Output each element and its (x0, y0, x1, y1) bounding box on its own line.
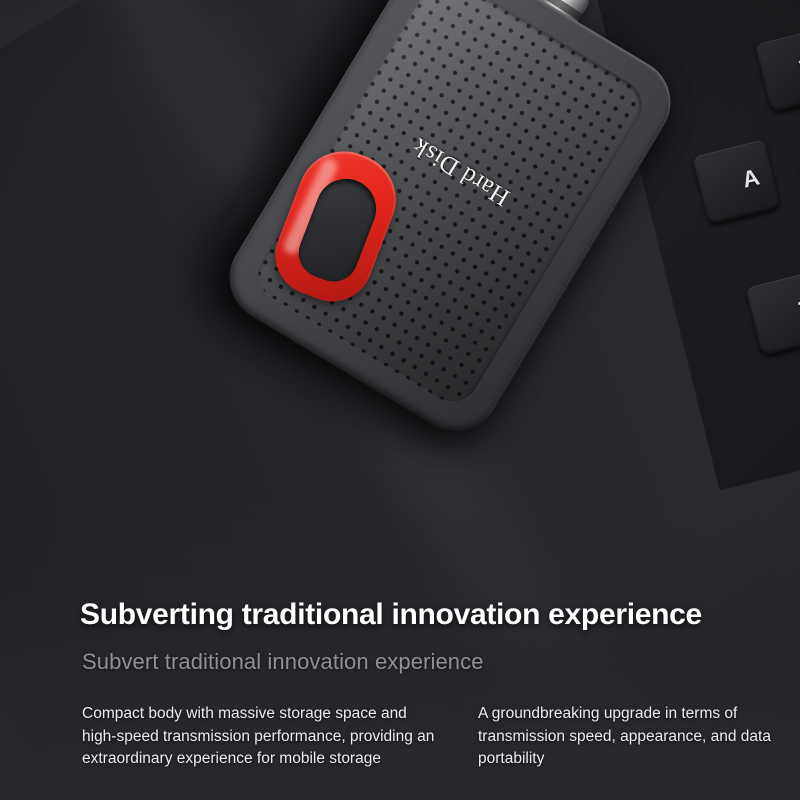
copy-column-right: A groundbreaking upgrade in terms of tra… (478, 703, 778, 771)
subheading: Subvert traditional innovation experienc… (82, 649, 484, 675)
product-banner: @ 2 W S A Z A Hard Disk (0, 0, 800, 800)
copy-column-left: Compact body with massive storage space … (82, 703, 442, 771)
headline: Subverting traditional innovation experi… (80, 598, 702, 632)
